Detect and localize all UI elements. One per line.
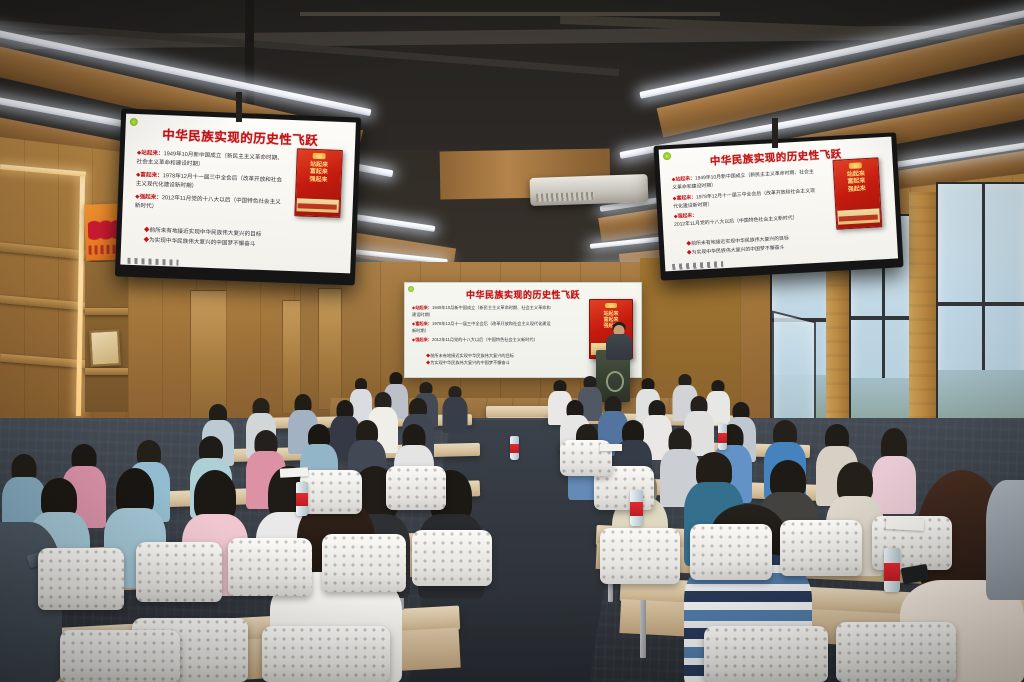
point-key: 站起来：	[415, 305, 432, 310]
slide-point: ◆强起来：2012年11月党的十八大以后（中国特色社会主义新时代）	[135, 193, 283, 217]
point-text: 1949年10月新中国成立（新民主主义革命时期、社会主义革命和建设时期）	[412, 305, 551, 317]
book-title: 站起来 富起来 强起来	[847, 171, 866, 194]
projected-point: ◆强起来：2012年11月党的十八大以后（中国特色社会主义新时代）	[412, 337, 554, 344]
chair-foreground-right[interactable]	[836, 622, 956, 682]
projected-slide-points: ◆站起来：1949年10月新中国成立（新民主主义革命时期、社会主义革命和建设时期…	[412, 305, 554, 344]
tv-left-panel: 中华民族实现的历史性飞跃 ◆站起来：1949年10月新中国成立（新民主主义革命时…	[121, 114, 356, 274]
attendee-torso	[986, 480, 1024, 600]
chair[interactable]	[262, 626, 390, 682]
point-key: 站起来：	[675, 177, 695, 183]
book-emblem-icon	[849, 162, 863, 169]
point-key: 强起来：	[415, 337, 432, 342]
powerpoint-status-bar[interactable]	[672, 261, 723, 270]
slide-book-cover: 站起来 富起来 强起来	[294, 148, 343, 218]
bottle-label	[296, 493, 308, 506]
ceiling-sprinkler-line	[300, 12, 720, 16]
book-title-line: 强起来	[848, 186, 866, 194]
attendee-right-edge	[986, 480, 1024, 600]
bullet-text: 前所未有地接近实现中华民族伟大复兴的目标	[430, 353, 514, 358]
chair[interactable]	[386, 466, 446, 510]
point-key: 强起来：	[677, 214, 697, 220]
water-bottle[interactable]	[718, 424, 727, 450]
chair[interactable]	[690, 524, 772, 580]
chair[interactable]	[322, 534, 406, 592]
book-emblem-icon	[313, 153, 326, 159]
slide-bullets: ◆前所未有地接近实现中华民族伟大复兴的目标 ◆为实现中华民族伟大复兴的中国梦不懈…	[127, 224, 345, 254]
tv-right-panel: 中华民族实现的历史性飞跃 ◆站起来：1949年10月新中国成立（新民主主义革命时…	[659, 137, 898, 271]
slide-points: ◆站起来：1949年10月新中国成立（新民主主义革命时期、社会主义革命和建设时期…	[129, 149, 285, 216]
chair[interactable]	[228, 538, 312, 596]
attendee-torso	[442, 397, 467, 433]
bullet-text: 为实现中华民族伟大复兴的中国梦不懈奋斗	[692, 246, 785, 256]
book-title-line: 站起来	[603, 311, 618, 317]
lecture-hall-photo: 中华民族实现的历史性飞跃 ◆站起来：1949年10月新中国成立（新民主主义革命时…	[0, 0, 1024, 682]
chair[interactable]	[38, 548, 124, 610]
point-text: 2012年11月党的十八大以后（中国特色社会主义新时代）	[432, 337, 538, 342]
bottle-label	[718, 433, 727, 443]
book-title-line: 强起来	[309, 176, 327, 184]
chair[interactable]	[412, 530, 492, 586]
bullet-text: 为实现中华民族伟大复兴的中国梦不懈奋斗	[430, 360, 510, 365]
window-3-mullion-h	[938, 302, 1024, 306]
chair-foreground-left[interactable]	[60, 630, 180, 682]
point-key: 强起来：	[139, 194, 162, 201]
point-key: 富起来：	[415, 321, 432, 326]
bottle-label	[630, 502, 643, 516]
book-emblem-icon	[605, 303, 618, 308]
chair[interactable]	[780, 520, 862, 576]
point-key: 富起来：	[676, 195, 696, 201]
chair[interactable]	[600, 528, 680, 584]
slide-point: ◆站起来：1949年10月新中国成立（新民主主义革命时期、社会主义革命和建设时期…	[136, 149, 284, 173]
slide-book-cover: 站起来 富起来 强起来	[832, 157, 882, 229]
point-key: 站起来：	[141, 150, 164, 157]
paper-on-desk[interactable]	[280, 467, 308, 477]
water-bottle[interactable]	[884, 548, 900, 592]
ac-unit-upper	[530, 174, 649, 206]
slide-bullets: ◆前所未有地接近实现中华民族伟大复兴的目标 ◆为实现中华民族伟大复兴的中国梦不懈…	[670, 229, 891, 260]
speaker	[606, 322, 632, 362]
paper-on-desk[interactable]	[600, 444, 622, 451]
desk-right-leg-a	[640, 600, 646, 658]
tv-left-mount-arm	[236, 92, 242, 122]
stage-side-door[interactable]	[318, 288, 342, 410]
shelf-award-plaque	[89, 329, 121, 367]
water-bottle[interactable]	[296, 482, 308, 516]
tv-right-slide: 中华民族实现的历史性飞跃 ◆站起来：1949年10月新中国成立（新民主主义革命时…	[659, 137, 898, 271]
tv-right: 中华民族实现的历史性飞跃 ◆站起来：1949年10月新中国成立（新民主主义革命时…	[653, 132, 903, 280]
projected-point: ◆富起来：1978年12月十一届三中全会后（改革开放和社会主义现代化建设新时期）	[412, 321, 554, 334]
speaker-torso	[606, 334, 632, 360]
tv-left-slide: 中华民族实现的历史性飞跃 ◆站起来：1949年10月新中国成立（新民主主义革命时…	[121, 114, 356, 274]
slide-point: ◆富起来：1978年12月十一届三中全会后（改革开放和社会主义现代化建设新时期）	[136, 171, 284, 195]
tv-left: 中华民族实现的历史性飞跃 ◆站起来：1949年10月新中国成立（新民主主义革命时…	[115, 108, 361, 285]
podium-emblem-icon	[606, 371, 625, 393]
chair[interactable]	[300, 470, 362, 514]
chair[interactable]	[136, 542, 222, 602]
point-key: 富起来：	[140, 172, 163, 179]
slide-title: 中华民族实现的历史性飞跃	[131, 123, 349, 150]
bullet-text: 为实现中华民族伟大复兴的中国梦不懈奋斗	[149, 238, 255, 248]
ac-vent-upper	[536, 192, 594, 202]
projected-point: ◆站起来：1949年10月新中国成立（新民主主义革命时期、社会主义革命和建设时期…	[412, 305, 554, 318]
chair-foreground-center[interactable]	[704, 626, 828, 682]
paper-on-desk[interactable]	[886, 517, 925, 531]
point-text: 1978年12月十一届三中全会后（改革开放和社会主义现代化建设新时期）	[412, 321, 551, 333]
bottle-label	[510, 444, 519, 453]
book-title: 站起来 富起来 强起来	[309, 161, 328, 184]
slide-points: ◆站起来：1949年10月新中国成立（新民主主义革命时期、社会主义革命和建设时期…	[667, 169, 820, 230]
powerpoint-status-bar[interactable]	[127, 258, 178, 266]
left-door-2[interactable]	[190, 290, 228, 420]
water-bottle[interactable]	[510, 436, 519, 460]
tv-right-mount-arm	[772, 118, 778, 148]
water-bottle[interactable]	[630, 490, 643, 526]
bottle-label	[884, 563, 900, 581]
attendee	[442, 386, 467, 432]
